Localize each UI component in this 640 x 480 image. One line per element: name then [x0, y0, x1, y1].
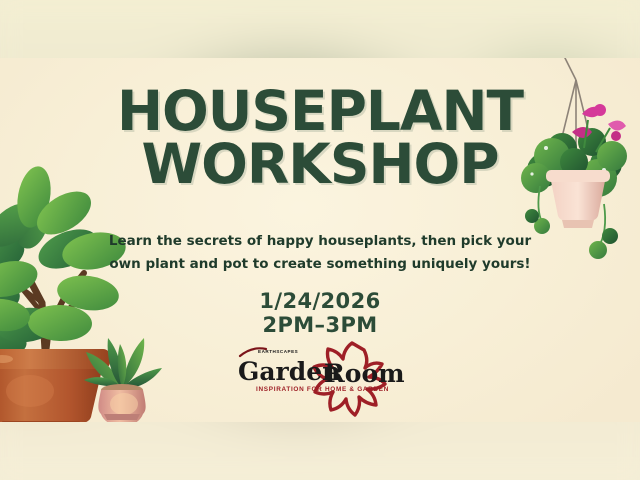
subtitle-line-2: own plant and pot to create something un…: [109, 256, 530, 272]
poster-title: HOUSEPLANT WORKSHOP: [0, 86, 640, 189]
subtitle-line-1: Learn the secrets of happy houseplants, …: [109, 233, 531, 249]
spiky-plant-illustration: [78, 330, 166, 422]
logo-word-room: Room: [324, 359, 405, 388]
event-datetime: 1/24/2026 2PM–3PM: [120, 290, 520, 337]
logo-tagline: INSPIRATION FOR HOME & GARDEN: [256, 386, 389, 393]
poster-canvas: HOUSEPLANT WORKSHOP Learn the secrets of…: [0, 0, 640, 480]
event-date: 1/24/2026: [120, 290, 520, 314]
garden-room-logo: EARTHSCAPES Garden Room INSPIRATION FOR …: [236, 344, 406, 410]
title-line-2: WORKSHOP: [0, 139, 640, 190]
title-line-1: HOUSEPLANT: [0, 86, 640, 137]
poster-panel: HOUSEPLANT WORKSHOP Learn the secrets of…: [0, 58, 640, 422]
poster-subtitle: Learn the secrets of happy houseplants, …: [70, 230, 570, 276]
event-time: 2PM–3PM: [120, 314, 520, 338]
